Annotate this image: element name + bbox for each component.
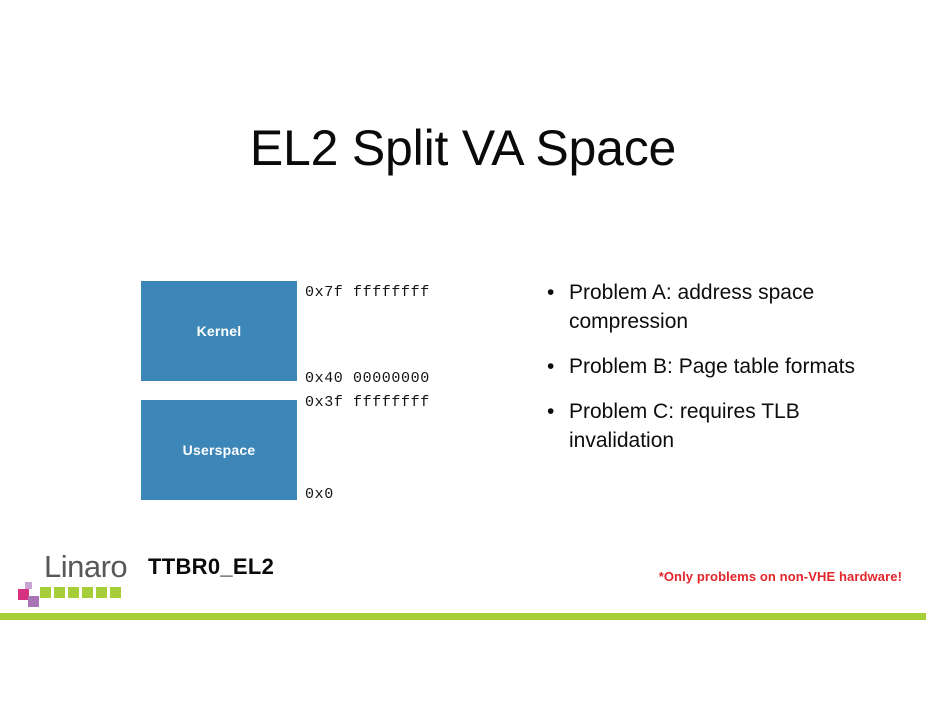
bullet-list: • Problem A: address space compression •… — [541, 278, 891, 471]
bullet-dot-icon: • — [547, 352, 554, 381]
address-label-userspace-bottom: 0x0 — [305, 486, 334, 503]
logo-square-green — [68, 587, 79, 598]
bullet-dot-icon: • — [547, 397, 554, 426]
list-item: • Problem C: requires TLB invalidation — [541, 397, 891, 455]
memory-region-kernel-label: Kernel — [197, 323, 242, 339]
address-label-kernel-top: 0x7f ffffffff — [305, 284, 430, 301]
list-item-text: Problem B: Page table formats — [569, 355, 855, 378]
register-label-ttbr0-el2: TTBR0_EL2 — [148, 554, 274, 580]
list-item: • Problem A: address space compression — [541, 278, 891, 336]
footer-accent-bar — [0, 613, 926, 620]
memory-layout-diagram: Kernel Userspace 0x7f ffffffff 0x40 0000… — [141, 281, 451, 511]
address-label-kernel-bottom: 0x40 00000000 — [305, 370, 430, 387]
logo-square-green — [54, 587, 65, 598]
logo-square-purple-small — [25, 582, 32, 589]
linaro-logo: Linaro — [18, 551, 128, 609]
memory-region-userspace-label: Userspace — [183, 442, 256, 458]
page-title: EL2 Split VA Space — [0, 121, 926, 176]
logo-square-green — [96, 587, 107, 598]
list-item-text: Problem A: address space compression — [569, 281, 814, 333]
logo-square-green — [82, 587, 93, 598]
address-label-userspace-top: 0x3f ffffffff — [305, 394, 430, 411]
logo-square-green — [110, 587, 121, 598]
logo-square-green — [40, 587, 51, 598]
memory-region-userspace: Userspace — [141, 400, 297, 500]
linaro-wordmark: Linaro — [44, 551, 127, 582]
slide-canvas: EL2 Split VA Space Kernel Userspace 0x7f… — [0, 0, 926, 716]
logo-square-purple — [28, 596, 39, 607]
footnote-text: *Only problems on non-VHE hardware! — [659, 569, 902, 584]
list-item: • Problem B: Page table formats — [541, 352, 891, 381]
list-item-text: Problem C: requires TLB invalidation — [569, 400, 800, 452]
bullet-dot-icon: • — [547, 278, 554, 307]
memory-region-kernel: Kernel — [141, 281, 297, 381]
